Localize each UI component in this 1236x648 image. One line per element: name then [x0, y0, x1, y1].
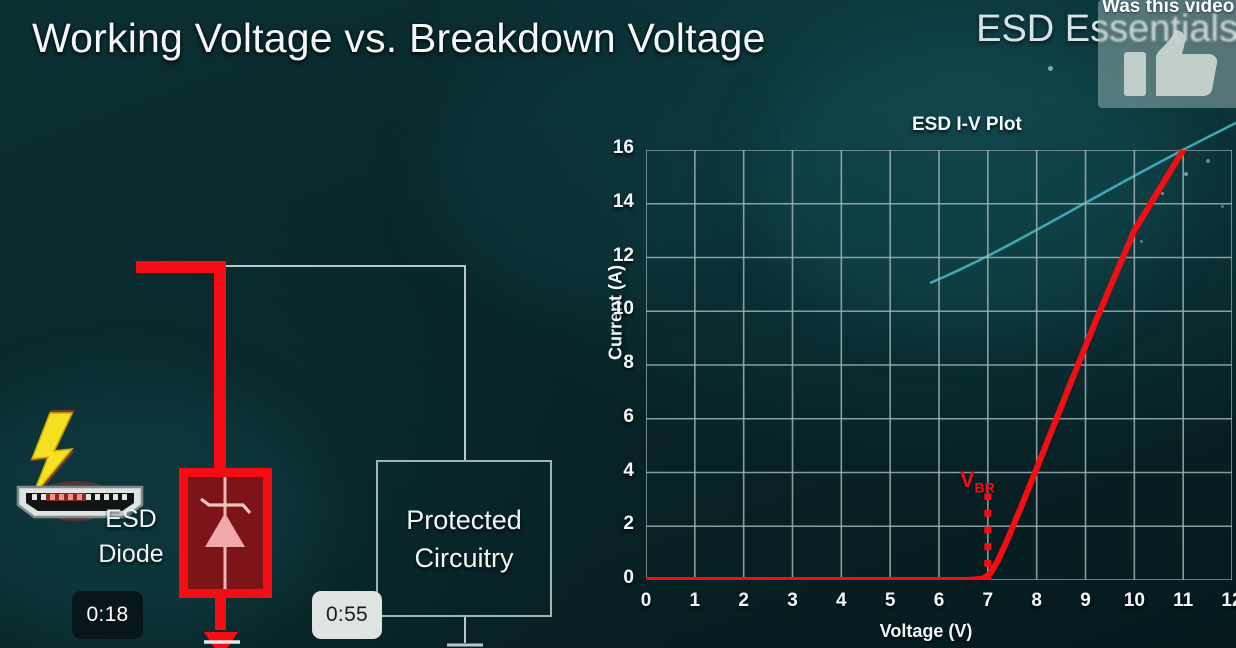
- chart-y-tick: 4: [594, 460, 634, 482]
- chart-title: ESD I-V Plot: [580, 114, 1236, 136]
- chart-y-tick: 6: [594, 406, 634, 428]
- total-time-chip[interactable]: 0:55: [312, 591, 382, 639]
- chart-x-tick: 4: [826, 590, 856, 612]
- thumbs-up-icon[interactable]: [1124, 30, 1232, 102]
- chart-y-tick: 8: [594, 352, 634, 374]
- chart-x-tick: 12: [1217, 590, 1236, 612]
- ground-symbol-icon: [441, 641, 489, 648]
- chart-x-axis-label: Voltage (V): [786, 621, 1066, 642]
- chart-y-tick: 12: [594, 245, 634, 267]
- protected-circuitry-label: Protected Circuitry: [376, 502, 552, 578]
- ground-symbol-icon: [198, 638, 246, 648]
- chart-x-tick: 10: [1119, 590, 1149, 612]
- chart-y-tick: 2: [594, 513, 634, 535]
- esd-protection-circuit-diagram: ESD Diode Protected Circuitry: [0, 150, 600, 570]
- breakdown-voltage-label: VBR: [960, 467, 995, 495]
- surge-wire-vertical: [214, 261, 226, 476]
- chart-x-tick: 5: [875, 590, 905, 612]
- esd-iv-chart: ESD I-V Plot Current (A) Voltage (V) 024…: [580, 110, 1236, 648]
- surge-wire-horizontal: [136, 261, 226, 273]
- survey-prompt-label: Was this video: [1102, 0, 1234, 18]
- chart-x-tick: 9: [1071, 590, 1101, 612]
- chart-y-tick: 14: [594, 191, 634, 213]
- protected-circuitry-label-line2: Circuitry: [376, 540, 552, 578]
- zener-diode-icon: [188, 477, 263, 589]
- esd-diode-label-line1: ESD: [88, 502, 174, 537]
- chart-x-tick: 3: [778, 590, 808, 612]
- bg-sparkle: [1048, 66, 1053, 71]
- esd-diode-label-line2: Diode: [88, 537, 174, 572]
- protected-circuitry-label-line1: Protected: [376, 502, 552, 540]
- chart-plot-area: [646, 150, 1232, 580]
- signal-wire-horizontal: [226, 265, 466, 267]
- chart-x-tick: 8: [1022, 590, 1052, 612]
- esd-diode-label: ESD Diode: [88, 502, 174, 571]
- chart-x-tick: 6: [924, 590, 954, 612]
- chart-x-tick: 0: [631, 590, 661, 612]
- esd-diode-block: [179, 468, 272, 598]
- signal-wire-vertical: [464, 265, 466, 461]
- chart-x-tick: 7: [973, 590, 1003, 612]
- chart-x-tick: 11: [1168, 590, 1198, 612]
- current-time-chip[interactable]: 0:18: [72, 591, 143, 639]
- protected-ground-wire: [464, 617, 466, 643]
- chart-x-tick: 1: [680, 590, 710, 612]
- video-frame: Working Voltage vs. Breakdown Voltage ES…: [0, 0, 1236, 648]
- chart-y-tick: 16: [594, 137, 634, 159]
- chart-x-tick: 2: [729, 590, 759, 612]
- chart-y-tick: 10: [594, 298, 634, 320]
- vbr-main-label: V: [960, 467, 975, 492]
- page-title: Working Voltage vs. Breakdown Voltage: [32, 15, 766, 62]
- vbr-sub-label: BR: [975, 479, 995, 495]
- chart-y-tick: 0: [594, 567, 634, 589]
